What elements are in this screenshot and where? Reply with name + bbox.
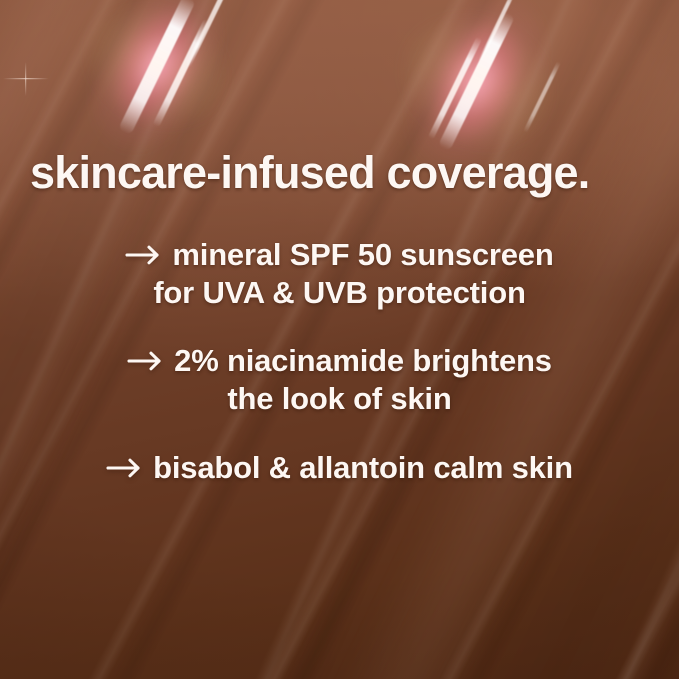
arrow-right-icon [125, 244, 165, 266]
benefit-text: mineral SPF 50 sunscreen [172, 237, 553, 272]
headline: skincare-infused coverage. [30, 150, 589, 195]
content-layer: skincare-infused coverage. mineral SPF 5… [0, 0, 679, 679]
benefit-line: bisabol & allantoin calm skin [0, 449, 679, 487]
benefit-item: bisabol & allantoin calm skin [0, 449, 679, 487]
benefit-text: for UVA & UVB protection [0, 274, 679, 312]
benefit-line: mineral SPF 50 sunscreen [0, 236, 679, 274]
arrow-right-icon [127, 350, 167, 372]
benefit-text: 2% niacinamide brightens [174, 343, 552, 378]
benefit-text: the look of skin [0, 380, 679, 418]
benefit-text: bisabol & allantoin calm skin [153, 450, 573, 485]
benefit-item: mineral SPF 50 sunscreen for UVA & UVB p… [0, 236, 679, 312]
marketing-graphic-canvas: skincare-infused coverage. mineral SPF 5… [0, 0, 679, 679]
arrow-right-icon [106, 457, 146, 479]
benefit-item: 2% niacinamide brightens the look of ski… [0, 342, 679, 418]
benefit-line: 2% niacinamide brightens [0, 342, 679, 380]
benefit-list: mineral SPF 50 sunscreen for UVA & UVB p… [0, 236, 679, 487]
